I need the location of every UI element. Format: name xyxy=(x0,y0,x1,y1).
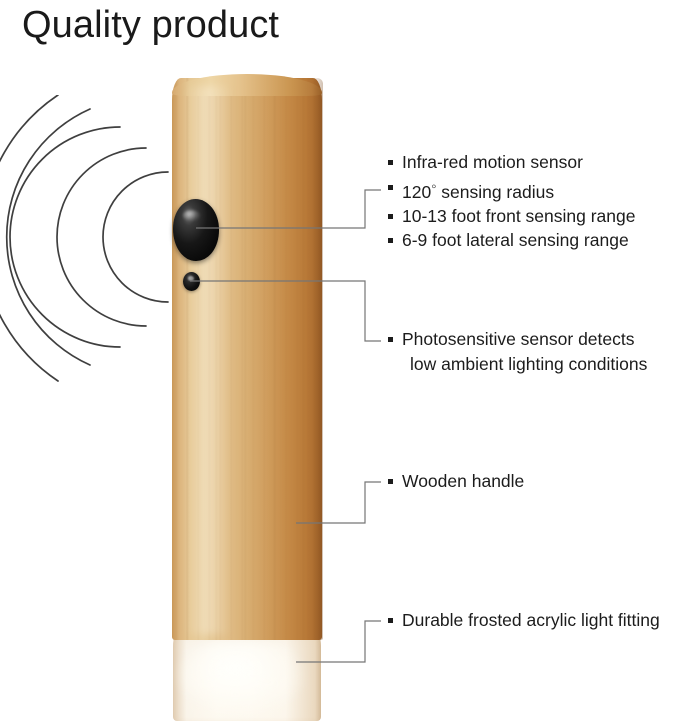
callout-photosensitive-sensor: Photosensitive sensor detects low ambien… xyxy=(388,327,647,376)
ir-sensor-highlight xyxy=(183,210,200,221)
photosensitive-sensor-dot xyxy=(183,272,200,291)
motion-wave-arcs xyxy=(0,95,180,385)
callout-line: low ambient lighting conditions xyxy=(388,352,647,377)
callout-frosted-acrylic: Durable frosted acrylic light fitting xyxy=(388,608,660,633)
wave-arc-4 xyxy=(7,109,90,365)
product-illustration xyxy=(171,74,323,721)
callout-line: Durable frosted acrylic light fitting xyxy=(388,608,660,633)
acrylic-glow xyxy=(181,640,301,710)
wood-sheen-highlight xyxy=(185,86,231,634)
sensing-radius-unit: sensing radius xyxy=(436,181,554,201)
callout-wooden-handle: Wooden handle xyxy=(388,469,524,494)
callout-line: Wooden handle xyxy=(388,469,524,494)
callout-line: 10-13 foot front sensing range xyxy=(388,204,636,229)
wave-arc-1 xyxy=(103,172,168,302)
photosensitive-sensor-highlight xyxy=(188,276,194,281)
callout-line: 6-9 foot lateral sensing range xyxy=(388,228,636,253)
sensing-radius-value: 120 xyxy=(402,181,431,201)
wood-right-edge-shadow xyxy=(312,78,323,640)
callout-line: Infra-red motion sensor xyxy=(388,150,636,175)
infographic-canvas: Quality product Infra-red xyxy=(0,0,679,721)
callout-line-sensing-radius: 120◦ sensing radius xyxy=(388,175,636,204)
page-title: Quality product xyxy=(22,2,279,48)
callout-infra-red-motion-sensor: Infra-red motion sensor 120◦ sensing rad… xyxy=(388,150,636,253)
infra-red-motion-sensor-dome xyxy=(173,199,219,261)
wave-arc-2 xyxy=(57,148,146,326)
callout-line: Photosensitive sensor detects xyxy=(388,327,647,352)
